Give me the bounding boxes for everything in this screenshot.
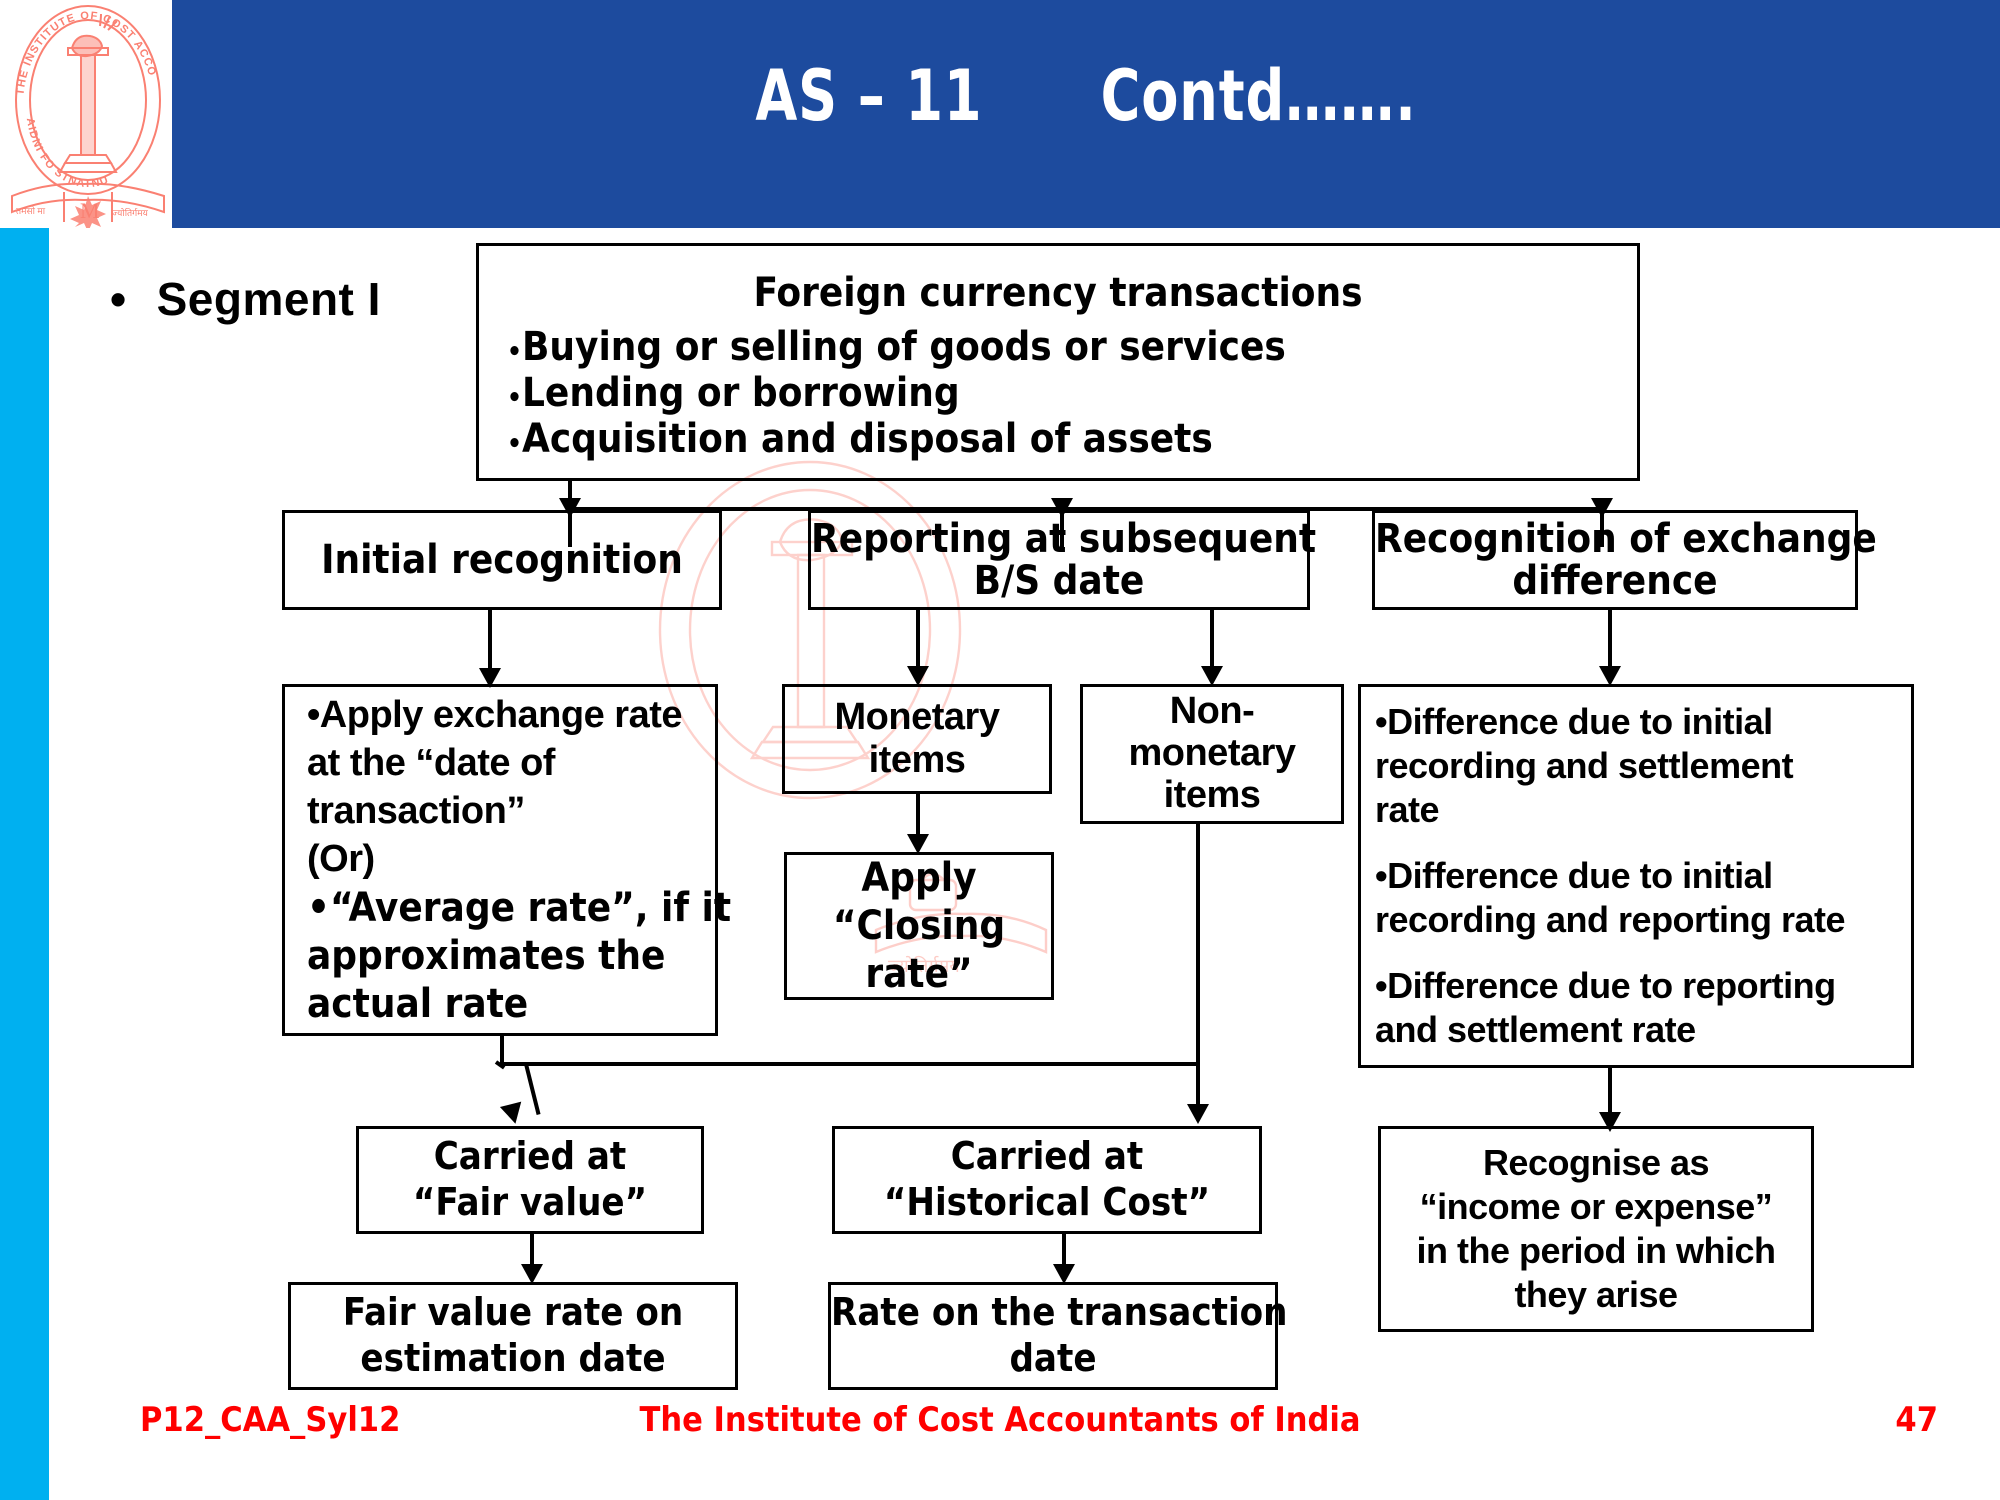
- box-foreign-currency-transactions: Foreign currency transactions •Buying or…: [476, 243, 1640, 481]
- initial-recognition-label: Initial recognition: [285, 537, 719, 583]
- segment-label: Segment I: [157, 272, 381, 326]
- apply-line-2: “Closing: [787, 902, 1051, 950]
- diff-b3-l1: •Difference due to reporting: [1375, 964, 1911, 1008]
- reporting-line-1: Reporting at subsequent: [811, 518, 1307, 560]
- detail-line-6: approximates the: [307, 932, 715, 980]
- tx-rate-line-1: Rate on the transaction: [831, 1290, 1275, 1336]
- detail-line-4: (Or): [307, 836, 715, 884]
- fair-value-line-1: Carried at: [359, 1134, 701, 1180]
- box-exchange-difference-detail: •Difference due to initial recording and…: [1358, 684, 1914, 1068]
- institute-logo: THE INSTITUTE OF COST ACCO AIDNI FO STNA…: [8, 0, 168, 228]
- box-recognise-as-income-or-expense: Recognise as “income or expense” in the …: [1378, 1126, 1814, 1332]
- root-bullet-3: •Acquisition and disposal of assets: [479, 416, 1637, 462]
- recognise-line-2: “income or expense”: [1381, 1185, 1811, 1229]
- box-reporting-subsequent: Reporting at subsequent B/S date: [808, 510, 1310, 610]
- detail-line-7: actual rate: [307, 980, 715, 1028]
- arrow-nonmonetary: [1201, 666, 1223, 686]
- diff-b2-l2: recording and reporting rate: [1375, 898, 1911, 942]
- root-bullet-2: •Lending or borrowing: [479, 370, 1637, 416]
- footer-institute-name: The Institute of Cost Accountants of Ind…: [0, 1400, 2000, 1440]
- nonmonetary-line-1: Non-: [1083, 691, 1341, 733]
- nonmonetary-line-3: items: [1083, 775, 1341, 817]
- slide-footer: P12_CAA_Syl12 The Institute of Cost Acco…: [0, 1400, 2000, 1460]
- recognise-line-1: Recognise as: [1381, 1141, 1811, 1185]
- box-rate-on-transaction-date: Rate on the transaction date: [828, 1282, 1278, 1390]
- recognition-line-2: difference: [1375, 560, 1855, 602]
- arrow-monetary: [907, 666, 929, 686]
- arrow-recognition-detail: [1599, 666, 1621, 686]
- tx-rate-line-2: date: [831, 1336, 1275, 1382]
- box-carried-at-historical-cost: Carried at “Historical Cost”: [832, 1126, 1262, 1234]
- footer-page-number: 47: [1895, 1400, 1938, 1440]
- svg-text:ज्योतिर्गमय: ज्योतिर्गमय: [112, 207, 149, 218]
- detail-line-5: •“Average rate”, if it: [307, 884, 715, 932]
- svg-text:AIDNI FO STNATNU: AIDNI FO STNATNU: [24, 117, 111, 190]
- historical-line-1: Carried at: [835, 1134, 1259, 1180]
- box-apply-closing-rate: Apply “Closing rate”: [784, 852, 1054, 1000]
- root-bullet-1: •Buying or selling of goods or services: [479, 324, 1637, 370]
- historical-line-2: “Historical Cost”: [835, 1180, 1259, 1226]
- box-monetary-items: Monetary items: [782, 684, 1052, 794]
- diff-b1-l2: recording and settlement: [1375, 744, 1911, 788]
- segment-bullet-icon: •: [110, 272, 127, 326]
- detail-line-3: transaction”: [307, 788, 715, 836]
- root-heading: Foreign currency transactions: [479, 270, 1637, 316]
- arrow-transaction-rate: [1053, 1264, 1075, 1284]
- recognise-line-4: they arise: [1381, 1273, 1811, 1317]
- diff-b3-l2: and settlement rate: [1375, 1008, 1911, 1052]
- box-recognition-of-exchange-difference: Recognition of exchange difference: [1372, 510, 1858, 610]
- diff-b1-l1: •Difference due to initial: [1375, 700, 1911, 744]
- svg-text:तमसो मा: तमसो मा: [16, 205, 46, 216]
- arrow-apply-closing: [907, 834, 929, 854]
- box-initial-recognition-detail: •Apply exchange rate at the “date of tra…: [282, 684, 718, 1036]
- slide-canvas: AS – 11 Contd…….: [0, 0, 2000, 1500]
- svg-text:M: M: [80, 198, 100, 223]
- diff-b2-l1: •Difference due to initial: [1375, 854, 1911, 898]
- arrow-historical-cost: [1187, 1104, 1209, 1124]
- fv-rate-line-1: Fair value rate on: [291, 1290, 735, 1336]
- box-initial-recognition: Initial recognition: [282, 510, 722, 610]
- arrow-fair-value-rate: [521, 1264, 543, 1284]
- detail-line-2: at the “date of: [307, 740, 715, 788]
- monetary-line-1: Monetary: [785, 696, 1049, 739]
- recognition-line-1: Recognition of exchange: [1375, 518, 1855, 560]
- nonmonetary-line-2: monetary: [1083, 733, 1341, 775]
- left-accent-strip: [0, 228, 49, 1500]
- fair-value-line-2: “Fair value”: [359, 1180, 701, 1226]
- page-title: AS – 11 Contd…….: [300, 55, 1872, 137]
- monetary-line-2: items: [785, 739, 1049, 782]
- detail-line-1: •Apply exchange rate: [307, 692, 715, 740]
- box-non-monetary-items: Non- monetary items: [1080, 684, 1344, 824]
- arrow-fair-value: [500, 1102, 526, 1127]
- reporting-line-2: B/S date: [811, 560, 1307, 602]
- segment-heading: • Segment I: [110, 272, 381, 326]
- apply-line-1: Apply: [787, 854, 1051, 902]
- box-carried-at-fair-value: Carried at “Fair value”: [356, 1126, 704, 1234]
- diff-b1-l3: rate: [1375, 788, 1911, 832]
- recognise-line-3: in the period in which: [1381, 1229, 1811, 1273]
- box-fair-value-rate: Fair value rate on estimation date: [288, 1282, 738, 1390]
- fv-rate-line-2: estimation date: [291, 1336, 735, 1382]
- apply-line-3: rate”: [787, 950, 1051, 998]
